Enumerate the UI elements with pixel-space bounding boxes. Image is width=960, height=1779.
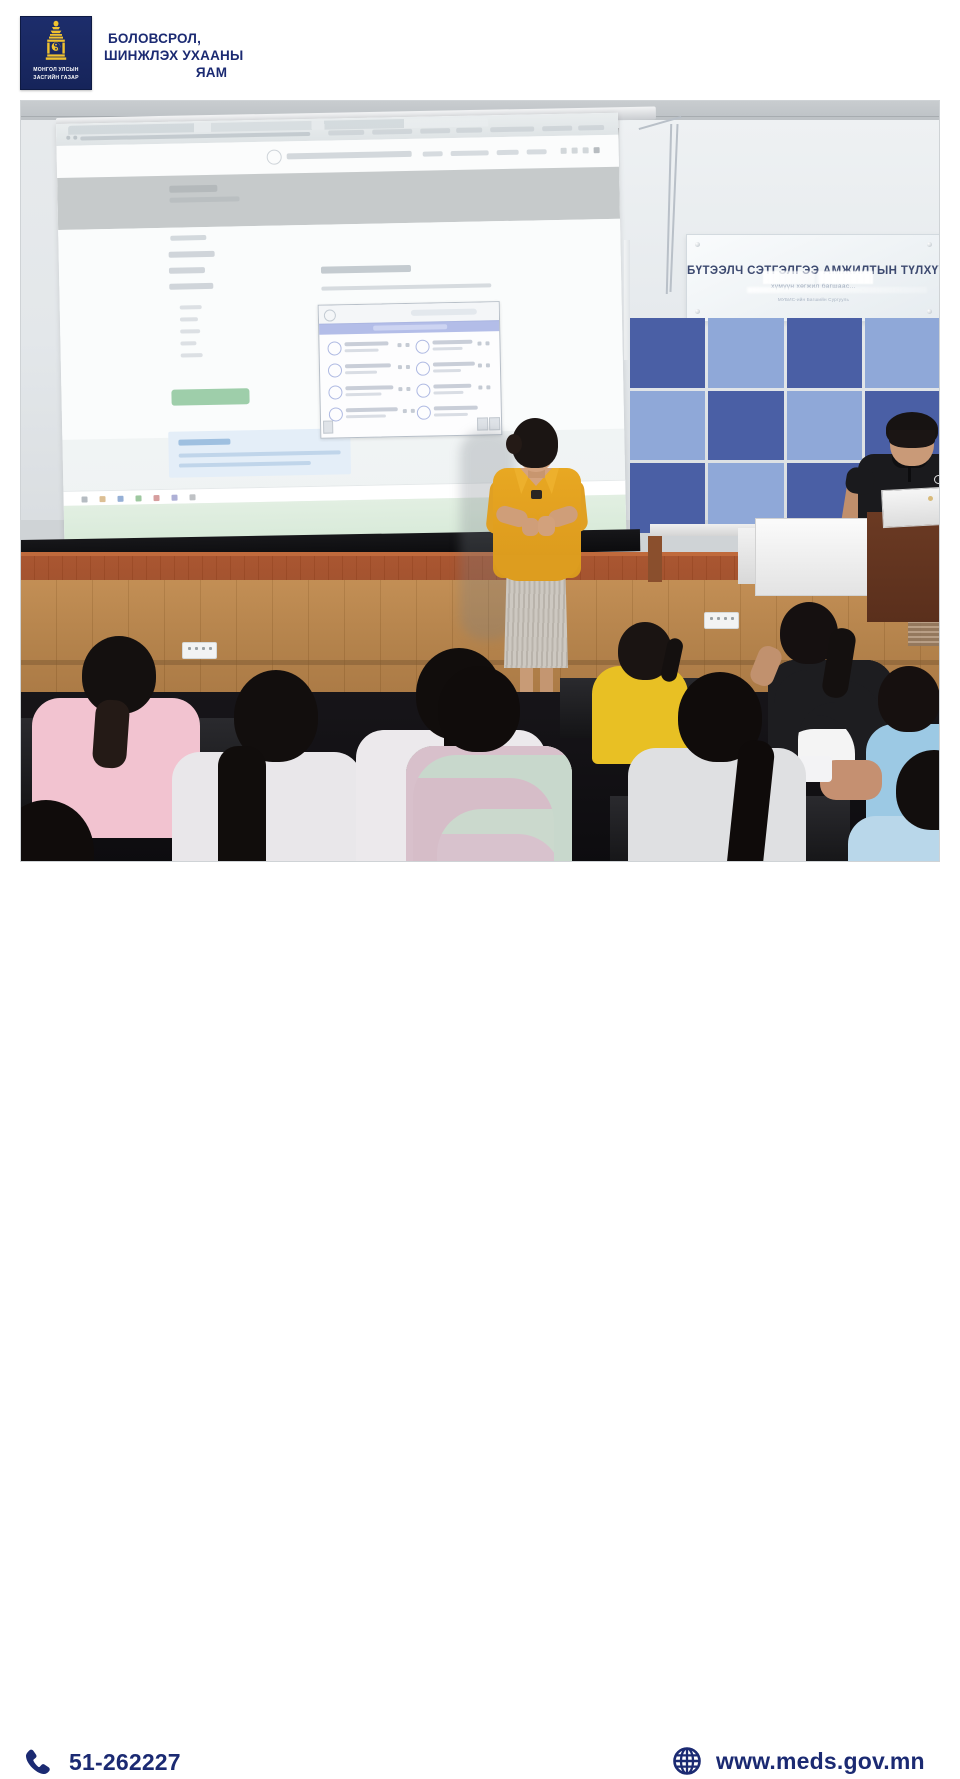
sign-stud [695,309,700,314]
lapel-microphone [531,490,542,499]
sign-stud [927,309,932,314]
operator-shirt-logo [934,475,940,484]
presenter-skirt [504,572,568,668]
presenter-blouse-hem [493,555,581,581]
government-emblem-badge: МОНГОЛ УЛСЫН ЗАСГИЙН ГАЗАР [20,16,92,90]
ministry-name-line2: ШИНЖЛЭХ УХААНЫ [104,47,319,64]
contact-phone[interactable]: 51-262227 [22,1746,181,1779]
emblem-text-line2: ЗАСГИЙН ГАЗАР [33,75,79,82]
phone-number: 51-262227 [69,1749,181,1776]
submit-button[interactable] [171,388,249,406]
dialog-avatar-icon [324,309,336,321]
footer: 51-262227 www.meds.gov.mn [0,862,960,960]
ministry-name: БОЛОВСРОЛ, ШИНЖЛЭХ УХААНЫ ЯАМ [104,30,319,81]
hero-title [169,185,217,193]
embedded-screenshot-dialog [318,301,503,439]
phone-icon [22,1746,55,1779]
website-url: www.meds.gov.mn [716,1748,925,1775]
dialog-search-field[interactable] [411,309,477,316]
wall-sign: БҮТЭЭЛЧ СЭТГЭЛГЭЭ АМЖИЛТЫН ТҮЛХҮҮР хүмүү… [686,234,940,322]
emblem-text-line1: МОНГОЛ УЛСЫН [33,67,78,74]
operator-hair [889,430,935,448]
side-table-leg [648,536,662,582]
wall-socket [182,642,217,659]
laptop-indicator [928,496,933,501]
contact-website[interactable]: www.meds.gov.mn [672,1746,925,1776]
info-callout-title [178,439,230,446]
ministry-name-line3: ЯАМ [104,64,319,81]
ministry-name-line1: БОЛОВСРОЛ, [104,30,319,47]
sign-stud [695,242,700,247]
presenter-hand [538,516,555,536]
breadcrumb [170,235,206,241]
globe-icon [672,1746,702,1776]
presenter-hand [522,518,539,536]
header: МОНГОЛ УЛСЫН ЗАСГИЙН ГАЗАР БОЛОВСРОЛ, ШИ… [0,0,960,100]
podium-lectern [867,512,940,622]
wall-socket [704,612,739,629]
sign-glare [747,287,927,293]
presenter-hair-bun [506,434,522,454]
wall-sign-line3: МУБИС-ийн Багшийн Сургууль [687,297,940,302]
podium-white-front [755,518,869,596]
event-photograph: БҮТЭЭЛЧ СЭТГЭЛГЭЭ АМЖИЛТЫН ТҮЛХҮҮР хүмүү… [20,100,940,862]
sign-glare [763,271,873,284]
soyombo-emblem-icon [41,20,71,66]
sign-stud [927,242,932,247]
podium-laptop [881,486,940,528]
poster-page: МОНГОЛ УЛСЫН ЗАСГИЙН ГАЗАР БОЛОВСРОЛ, ШИ… [0,0,960,960]
